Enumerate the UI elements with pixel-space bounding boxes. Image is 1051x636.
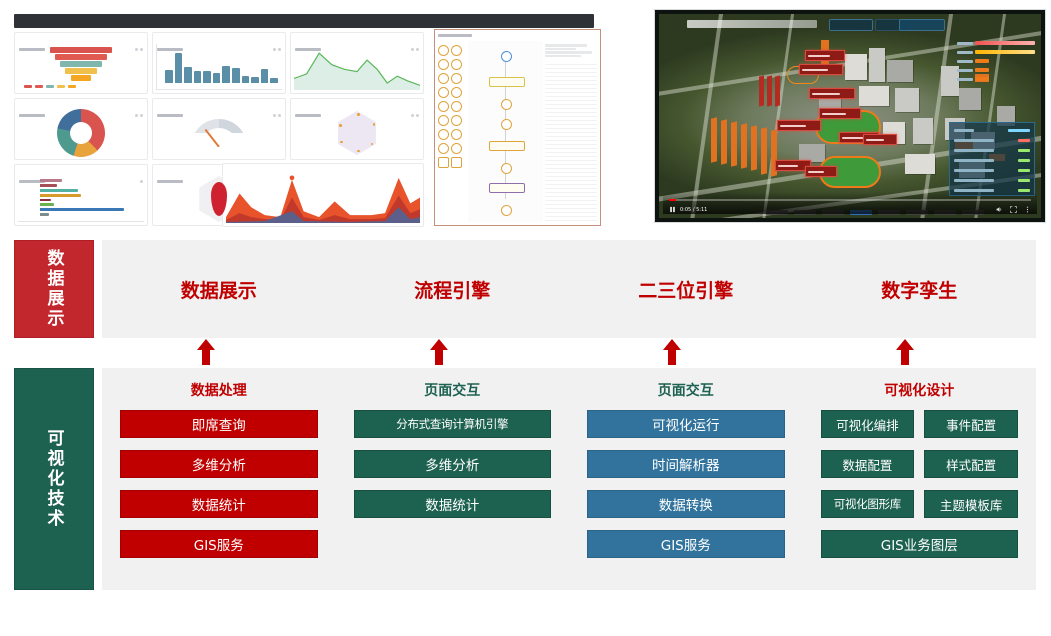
video-timestamp: 0:05 / 5:11 [680, 207, 707, 213]
column-title: 数据处理 [120, 380, 318, 400]
pause-icon[interactable] [669, 206, 676, 213]
map-label[interactable] [777, 120, 821, 131]
video-right-controls[interactable] [996, 206, 1031, 213]
chip-visual-runtime[interactable]: 可视化运行 [587, 410, 785, 438]
visual-design-pair-grid: 可视化编排 事件配置 数据配置 样式配置 可视化图形库 主题模板库 [821, 410, 1019, 530]
card-header [295, 102, 419, 106]
map-label[interactable] [799, 64, 843, 75]
chip-event-config[interactable]: 事件配置 [924, 410, 1018, 438]
chart-card-funnel[interactable] [14, 32, 148, 94]
column-title: 页面交互 [354, 380, 552, 400]
gauge-chart [156, 110, 282, 156]
map-label[interactable] [805, 166, 837, 177]
chip-visual-orchestration[interactable]: 可视化编排 [821, 410, 915, 438]
technology-layer-band: 可视化技术 数据处理 即席查询 多维分析 数据统计 GIS服务 页面交互 分布式… [14, 368, 1036, 622]
side-label-text: 可视化技术 [42, 429, 67, 529]
tech-column-page-interaction-flow: 页面交互 分布式查询计算机引擎 多维分析 数据统计 [336, 368, 570, 590]
map-label[interactable] [819, 108, 861, 119]
area-line-chart [294, 44, 420, 90]
horizontal-bar-chart [18, 176, 144, 222]
flow-editor-header [438, 33, 597, 38]
more-options-icon[interactable] [1024, 206, 1031, 213]
twin-hud-legend [957, 40, 1035, 85]
up-arrow-icon [894, 338, 916, 366]
chip-data-statistics[interactable]: 数据统计 [120, 490, 318, 518]
bi-dashboard-screenshot[interactable] [14, 14, 601, 226]
technology-columns: 数据处理 即席查询 多维分析 数据统计 GIS服务 页面交互 分布式查询计算机引… [102, 368, 1036, 590]
flow-engine-editor-screenshot[interactable] [434, 29, 601, 226]
twin-action-chip[interactable] [899, 19, 945, 31]
map-label[interactable] [805, 50, 845, 61]
chip-data-statistics[interactable]: 数据统计 [354, 490, 552, 518]
top-imagery-row: 0:05 / 5:11 [0, 0, 1051, 232]
tech-column-visual-design: 可视化设计 可视化编排 事件配置 数据配置 样式配置 可视化图形库 主题模板库 … [803, 368, 1037, 590]
up-arrow-icon [428, 338, 450, 366]
chart-card-hbar[interactable] [14, 164, 148, 226]
chart-card-radar[interactable] [290, 98, 424, 160]
chip-gis-service[interactable]: GIS服务 [120, 530, 318, 558]
chip-time-parser[interactable]: 时间解析器 [587, 450, 785, 478]
chart-card-stacked-area[interactable] [222, 163, 424, 227]
tech-column-data-processing: 数据处理 即席查询 多维分析 数据统计 GIS服务 [102, 368, 336, 590]
up-arrow-icon [661, 338, 683, 366]
technology-layer-side-label: 可视化技术 [14, 368, 94, 590]
presentation-categories: 数据展示 流程引擎 二三位引擎 数字孪生 [102, 240, 1036, 338]
column-title: 可视化设计 [821, 380, 1019, 400]
category-flow-engine[interactable]: 流程引擎 [336, 276, 570, 303]
chip-visual-graphics-library[interactable]: 可视化图形库 [821, 490, 915, 518]
side-label-text: 数据展示 [42, 249, 67, 329]
twin-datetime [951, 19, 1033, 31]
stacked-area-chart [226, 168, 420, 223]
tech-column-page-interaction-engine: 页面交互 可视化运行 时间解析器 数据转换 GIS服务 [569, 368, 803, 590]
chip-gis-business-layer[interactable]: GIS业务图层 [821, 530, 1019, 558]
map-label[interactable] [863, 134, 897, 145]
category-2d3d-engine[interactable]: 二三位引擎 [569, 276, 803, 303]
presentation-layer-side-label: 数据展示 [14, 240, 94, 338]
column-title: 页面交互 [587, 380, 785, 400]
flow-properties-panel[interactable] [545, 41, 597, 222]
video-progress-bar[interactable] [669, 199, 1031, 201]
card-header [157, 36, 281, 40]
video-left-controls[interactable]: 0:05 / 5:11 [669, 206, 707, 213]
funnel-chart [18, 44, 144, 90]
presentation-layer-band: 数据展示 数据展示 流程引擎 二三位引擎 数字孪生 [14, 240, 1036, 338]
flow-data-table [545, 61, 597, 222]
digital-twin-3d-scene: 0:05 / 5:11 [659, 14, 1041, 218]
chip-theme-template-library[interactable]: 主题模板库 [924, 490, 1018, 518]
chip-multidim-analysis[interactable]: 多维分析 [120, 450, 318, 478]
radar-chart [294, 110, 420, 156]
chart-card-donut[interactable] [14, 98, 148, 160]
chip-data-conversion[interactable]: 数据转换 [587, 490, 785, 518]
chip-ad-hoc-query[interactable]: 即席查询 [120, 410, 318, 438]
chip-style-config[interactable]: 样式配置 [924, 450, 1018, 478]
card-header [295, 36, 419, 40]
twin-hud-datapanel[interactable] [949, 122, 1035, 196]
video-control-bar[interactable]: 0:05 / 5:11 [663, 192, 1037, 214]
chart-card-gauge[interactable] [152, 98, 286, 160]
volume-icon[interactable] [996, 206, 1003, 213]
category-digital-twin[interactable]: 数字孪生 [803, 276, 1037, 303]
flow-node-palette[interactable] [438, 41, 466, 222]
map-label[interactable] [809, 88, 855, 99]
twin-nav-chip[interactable] [829, 19, 873, 31]
bar-chart [156, 44, 282, 90]
fullscreen-icon[interactable] [1010, 206, 1017, 213]
card-header [19, 168, 143, 172]
twin-platform-title [687, 20, 817, 28]
chip-distributed-query-engine[interactable]: 分布式查询计算机引擎 [354, 410, 552, 438]
chip-multidim-analysis[interactable]: 多维分析 [354, 450, 552, 478]
up-arrow-icon [195, 338, 217, 366]
chart-card-bar[interactable] [152, 32, 286, 94]
category-data-display[interactable]: 数据展示 [102, 276, 336, 303]
dashboard-title-bar [14, 14, 594, 28]
card-header [19, 102, 143, 106]
chip-data-config[interactable]: 数据配置 [821, 450, 915, 478]
chart-card-area[interactable] [290, 32, 424, 94]
upward-arrow-row [88, 338, 1036, 368]
digital-twin-video[interactable]: 0:05 / 5:11 [654, 9, 1046, 223]
card-header [19, 36, 143, 40]
donut-chart [18, 110, 144, 156]
funnel-legend [24, 85, 76, 88]
chip-gis-service[interactable]: GIS服务 [587, 530, 785, 558]
card-header [157, 102, 281, 106]
flow-canvas[interactable] [468, 41, 543, 222]
